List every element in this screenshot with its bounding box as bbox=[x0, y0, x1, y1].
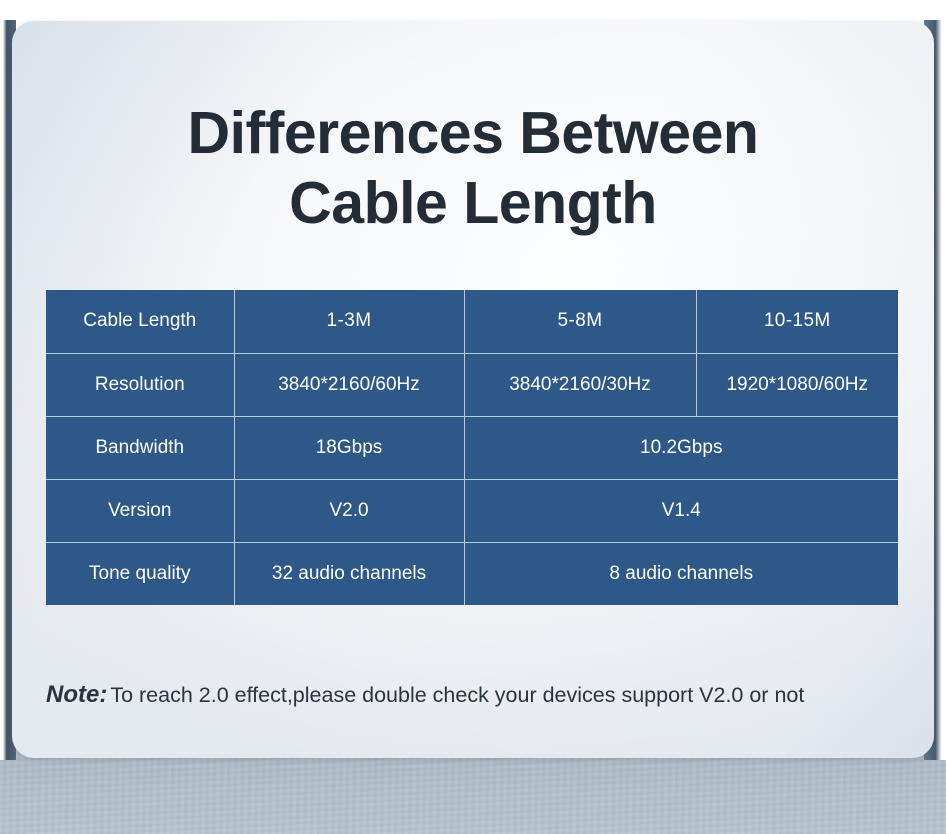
table-row: Resolution 3840*2160/60Hz 3840*2160/30Hz… bbox=[46, 353, 898, 416]
table-cell-resolution-3: 1920*1080/60Hz bbox=[696, 353, 898, 416]
footnote-label: Note: bbox=[46, 681, 107, 708]
table-cell-tone-quality-1: 32 audio channels bbox=[234, 542, 464, 605]
table-row: Tone quality 32 audio channels 8 audio c… bbox=[46, 542, 898, 605]
table-cell-resolution-1: 3840*2160/60Hz bbox=[234, 353, 464, 416]
table-row: Bandwidth 18Gbps 10.2Gbps bbox=[46, 416, 898, 479]
footnote: Note:To reach 2.0 effect,please double c… bbox=[46, 679, 906, 710]
cable-comparison-table: Cable Length 1-3M 5-8M 10-15M Resolution… bbox=[46, 290, 898, 605]
screenshot-stage: Differences Between Cable Length Cable L… bbox=[0, 0, 946, 834]
table-row-label-version: Version bbox=[46, 479, 234, 542]
table-column-header-3: 10-15M bbox=[696, 290, 898, 353]
table-row-header: Cable Length 1-3M 5-8M 10-15M bbox=[46, 290, 898, 353]
table-cell-tone-quality-merged: 8 audio channels bbox=[464, 542, 898, 605]
table-row: Version V2.0 V1.4 bbox=[46, 479, 898, 542]
table-corner-label: Cable Length bbox=[46, 290, 234, 353]
info-card: Differences Between Cable Length Cable L… bbox=[12, 21, 934, 758]
table-column-header-1: 1-3M bbox=[234, 290, 464, 353]
table-cell-bandwidth-1: 18Gbps bbox=[234, 416, 464, 479]
table-row-label-resolution: Resolution bbox=[46, 353, 234, 416]
table-cell-version-1: V2.0 bbox=[234, 479, 464, 542]
page-title-line-2: Cable Length bbox=[12, 169, 934, 239]
table-row-label-bandwidth: Bandwidth bbox=[46, 416, 234, 479]
page-title-line-1: Differences Between bbox=[12, 99, 934, 169]
footnote-text: To reach 2.0 effect,please double check … bbox=[110, 683, 804, 707]
table-cell-bandwidth-merged: 10.2Gbps bbox=[464, 416, 898, 479]
table-row-label-tone-quality: Tone quality bbox=[46, 542, 234, 605]
table-cell-resolution-2: 3840*2160/30Hz bbox=[464, 353, 696, 416]
table-cell-version-merged: V1.4 bbox=[464, 479, 898, 542]
page-title: Differences Between Cable Length bbox=[12, 99, 934, 238]
table-column-header-2: 5-8M bbox=[464, 290, 696, 353]
